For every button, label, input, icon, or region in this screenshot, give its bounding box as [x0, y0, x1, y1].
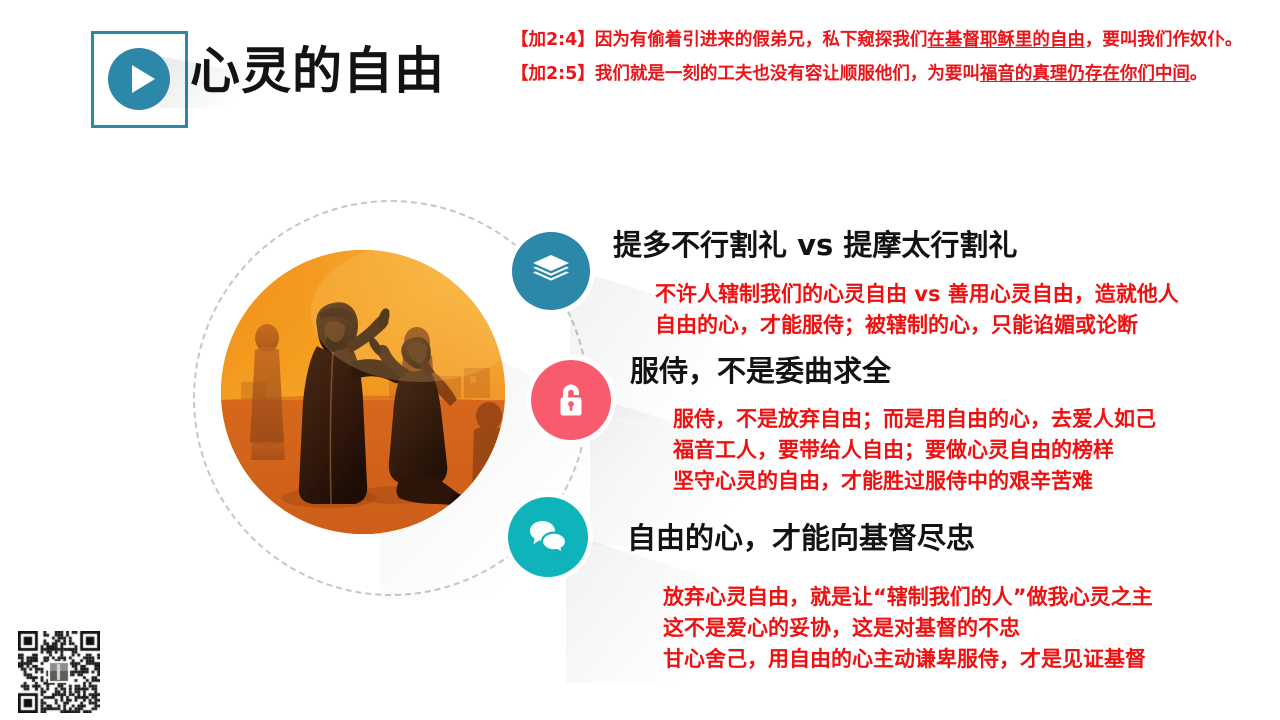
section-body-line: 甘心舍己，用自由的心主动谦卑服侍，才是见证基督	[663, 644, 1153, 675]
section-1-heading: 提多不行割礼 vs 提摩太行割礼	[613, 226, 1017, 264]
section-2-body: 服侍，不是放弃自由；而是用自由的心，去爱人如己福音工人，要带给人自由；要做心灵自…	[673, 404, 1156, 497]
unlock-padlock-icon[interactable]	[531, 360, 611, 440]
section-1-body: 不许人辖制我们的心灵自由 vs 善用心灵自由，造就他人自由的心，才能服侍；被辖制…	[655, 279, 1179, 341]
scripture-verse: 【加2:4】因为有偷着引进来的假弟兄，私下窥探我们在基督耶稣里的自由，要叫我们作…	[511, 27, 1271, 53]
section-3-heading: 自由的心，才能向基督尽忠	[627, 519, 975, 557]
section-2-heading: 服侍，不是委曲求全	[630, 352, 891, 390]
section-body-line: 自由的心，才能服侍；被辖制的心，只能谄媚或论断	[655, 310, 1179, 341]
section-body-line: 坚守心灵的自由，才能胜过服侍中的艰辛苦难	[673, 466, 1156, 497]
scripture-text: 。	[1190, 64, 1208, 84]
section-body-line: 这不是爱心的妥协，这是对基督的不忠	[663, 613, 1153, 644]
section-3-body: 放弃心灵自由，就是让“辖制我们的人”做我心灵之主这不是爱心的妥协，这是对基督的不…	[663, 582, 1153, 675]
scripture-block: 【加2:4】因为有偷着引进来的假弟兄，私下窥探我们在基督耶稣里的自由，要叫我们作…	[511, 27, 1271, 95]
scripture-underlined-text: 福音的真理仍存在你们中间	[980, 64, 1190, 84]
play-triangle-icon	[132, 65, 155, 93]
scripture-text: ，要叫我们作奴仆。	[1085, 30, 1243, 50]
play-button-icon	[108, 48, 170, 110]
section-body-line: 福音工人，要带给人自由；要做心灵自由的榜样	[673, 435, 1156, 466]
section-body-line: 不许人辖制我们的心灵自由 vs 善用心灵自由，造就他人	[655, 279, 1179, 310]
scripture-text: 因为有偷着引进来的假弟兄，私下窥探我们	[595, 30, 928, 50]
illustration-image	[221, 250, 505, 534]
scripture-text: 我们就是一刻的工夫也没有容让顺服他们，为要叫	[595, 64, 980, 84]
scripture-verse: 【加2:5】我们就是一刻的工夫也没有容让顺服他们，为要叫福音的真理仍存在你们中间…	[511, 61, 1271, 87]
scripture-reference: 【加2:5】	[511, 64, 595, 84]
scripture-underlined-text: 在基督耶稣里的自由	[927, 30, 1085, 50]
slide-canvas: 心灵的自由 【加2:4】因为有偷着引进来的假弟兄，私下窥探我们在基督耶稣里的自由…	[0, 0, 1280, 720]
section-body-line: 服侍，不是放弃自由；而是用自由的心，去爱人如己	[673, 404, 1156, 435]
scripture-reference: 【加2:4】	[511, 30, 595, 50]
layers-stack-icon[interactable]	[512, 232, 590, 310]
speech-bubbles-icon[interactable]	[508, 497, 588, 577]
section-body-line: 放弃心灵自由，就是让“辖制我们的人”做我心灵之主	[663, 582, 1153, 613]
qr-code-icon[interactable]	[18, 631, 100, 713]
page-title: 心灵的自由	[190, 40, 445, 102]
